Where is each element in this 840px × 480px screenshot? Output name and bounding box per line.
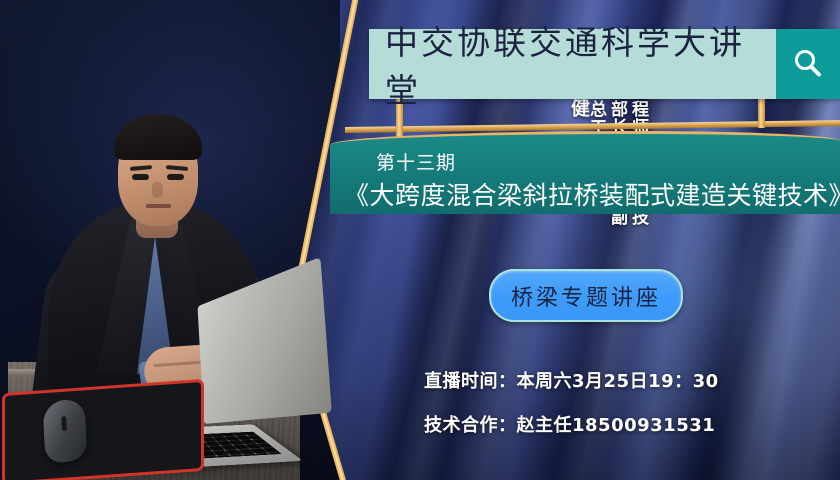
technical-contact: 技术合作：赵主任18500931531: [424, 411, 715, 437]
page-title: 中交协联交通科学大讲堂: [369, 16, 776, 112]
subtitle-block: 第十三期 《大跨度混合梁斜拉桥装配式建造关键技术》: [330, 131, 840, 214]
broadcast-time: 直播时间：本周六3月25日19：30: [424, 367, 719, 393]
search-icon: [791, 47, 825, 81]
eye-right: [167, 174, 184, 180]
speaker-photo: [8, 80, 300, 480]
episode-number: 第十三期: [376, 148, 456, 175]
title-banner: 中交协联交通科学大讲堂: [369, 29, 840, 99]
mousepad: [2, 379, 204, 480]
topic-category-button[interactable]: 桥梁专题讲座: [489, 269, 683, 322]
nose: [152, 182, 163, 198]
computer-mouse: [42, 398, 87, 465]
mouth: [146, 204, 171, 208]
lecture-topic: 《大跨度混合梁斜拉桥装配式建造关键技术》: [344, 176, 840, 212]
webinar-poster: 赵健 正高级工程师、集团科技 信息部副部长兼四公司副 总经理、总工程师 中交协联…: [0, 0, 840, 480]
topic-category-label: 桥梁专题讲座: [511, 280, 661, 312]
eye-left: [132, 174, 149, 180]
search-button[interactable]: [776, 29, 840, 99]
hair: [114, 114, 202, 160]
